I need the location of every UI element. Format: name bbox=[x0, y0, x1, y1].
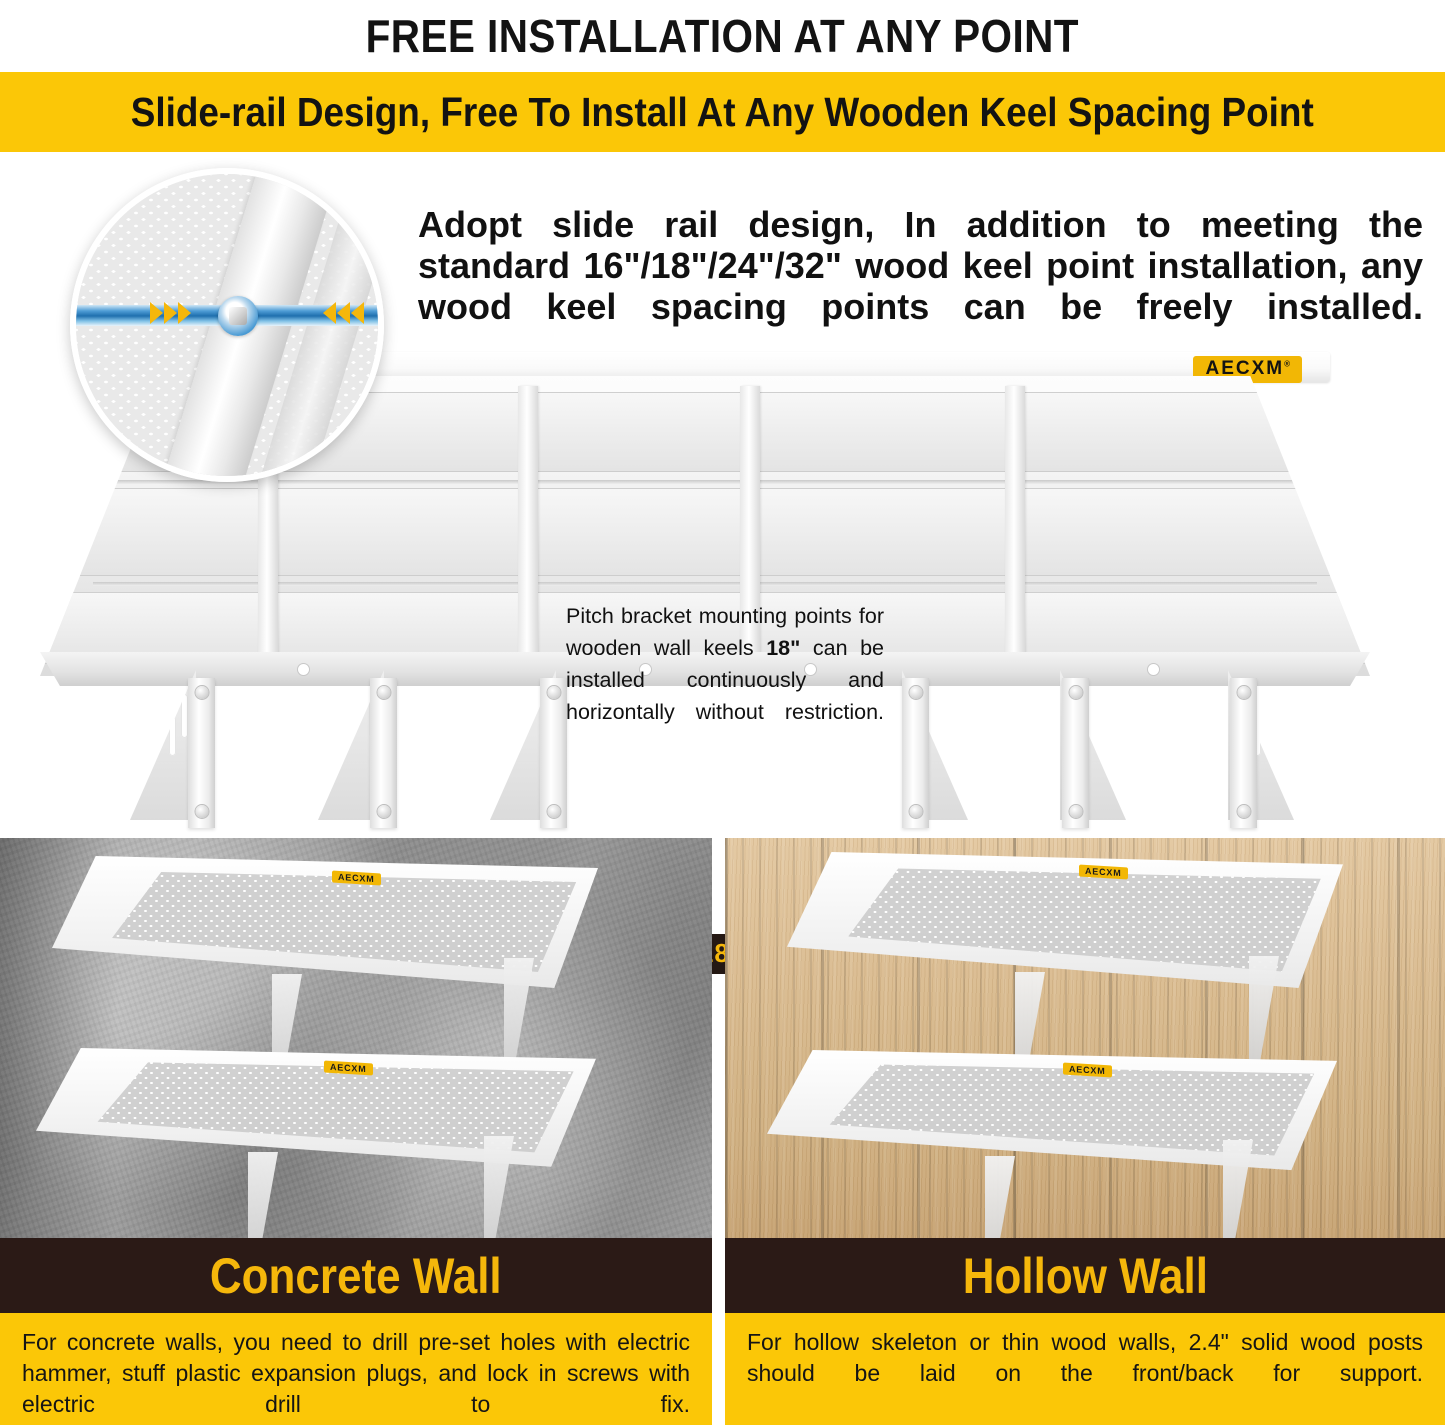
ledge-screw bbox=[298, 664, 309, 675]
pitch-bracket-note: Pitch bracket mounting points for wooden… bbox=[566, 600, 884, 760]
shelf-render-upper: AECXM bbox=[787, 852, 1343, 1058]
bracket-leg bbox=[540, 678, 567, 828]
hollow-wall-caption: For hollow skeleton or thin wood walls, … bbox=[725, 1313, 1445, 1425]
hollow-wall-photo: AECXM AECXM bbox=[725, 838, 1445, 1238]
hollow-wall-title: Hollow Wall bbox=[962, 1247, 1207, 1305]
subtitle-banner: Slide-rail Design, Free To Install At An… bbox=[0, 72, 1445, 152]
concrete-wall-caption: For concrete walls, you need to drill pr… bbox=[0, 1313, 712, 1425]
slide-rail-zoom-callout bbox=[70, 168, 384, 482]
hero-section: Adopt slide rail design, In addition to … bbox=[0, 152, 1445, 838]
bracket-leg bbox=[188, 678, 215, 828]
shelf-render-lower: AECXM bbox=[767, 1050, 1337, 1232]
chevron-left-icon bbox=[323, 302, 364, 324]
slide-rail-bolt bbox=[218, 296, 258, 336]
panel-hollow-wall: AECXM AECXM Hollow Wall For hollow skele… bbox=[725, 838, 1445, 1425]
bracket-leg bbox=[1230, 678, 1257, 828]
concrete-wall-caption-text: For concrete walls, you need to drill pr… bbox=[22, 1327, 690, 1425]
shelf-render-upper: AECXM bbox=[52, 856, 598, 1056]
bracket-leg bbox=[902, 678, 929, 828]
panel-concrete-wall: AECXM AECXM Concrete Wall For concrete w… bbox=[0, 838, 712, 1425]
bracket-leg bbox=[370, 678, 397, 828]
hollow-wall-caption-text: For hollow skeleton or thin wood walls, … bbox=[747, 1327, 1423, 1420]
subtitle-text: Slide-rail Design, Free To Install At An… bbox=[131, 89, 1314, 136]
headline-bar: FREE INSTALLATION AT ANY POINT bbox=[0, 0, 1445, 72]
deck-panel-row bbox=[40, 488, 1370, 576]
bracket-gusset bbox=[130, 670, 196, 820]
shelf-render-lower: AECXM bbox=[36, 1048, 596, 1228]
hero-description: Adopt slide rail design, In addition to … bbox=[418, 204, 1423, 368]
headline-text: FREE INSTALLATION AT ANY POINT bbox=[366, 9, 1079, 63]
brand-badge-text: AECXM bbox=[1205, 358, 1284, 379]
hollow-wall-title-bar: Hollow Wall bbox=[725, 1238, 1445, 1313]
pitch-note-measure: 18" bbox=[766, 636, 800, 660]
concrete-wall-photo: AECXM AECXM bbox=[0, 838, 712, 1238]
deck-cross-rail bbox=[1005, 386, 1025, 678]
concrete-wall-title: Concrete Wall bbox=[210, 1247, 502, 1305]
ledge-screw bbox=[1148, 664, 1159, 675]
chevron-right-icon bbox=[150, 302, 191, 324]
bracket-leg bbox=[1062, 678, 1089, 828]
concrete-wall-title-bar: Concrete Wall bbox=[0, 1238, 712, 1313]
deck-cross-rail bbox=[518, 386, 538, 678]
